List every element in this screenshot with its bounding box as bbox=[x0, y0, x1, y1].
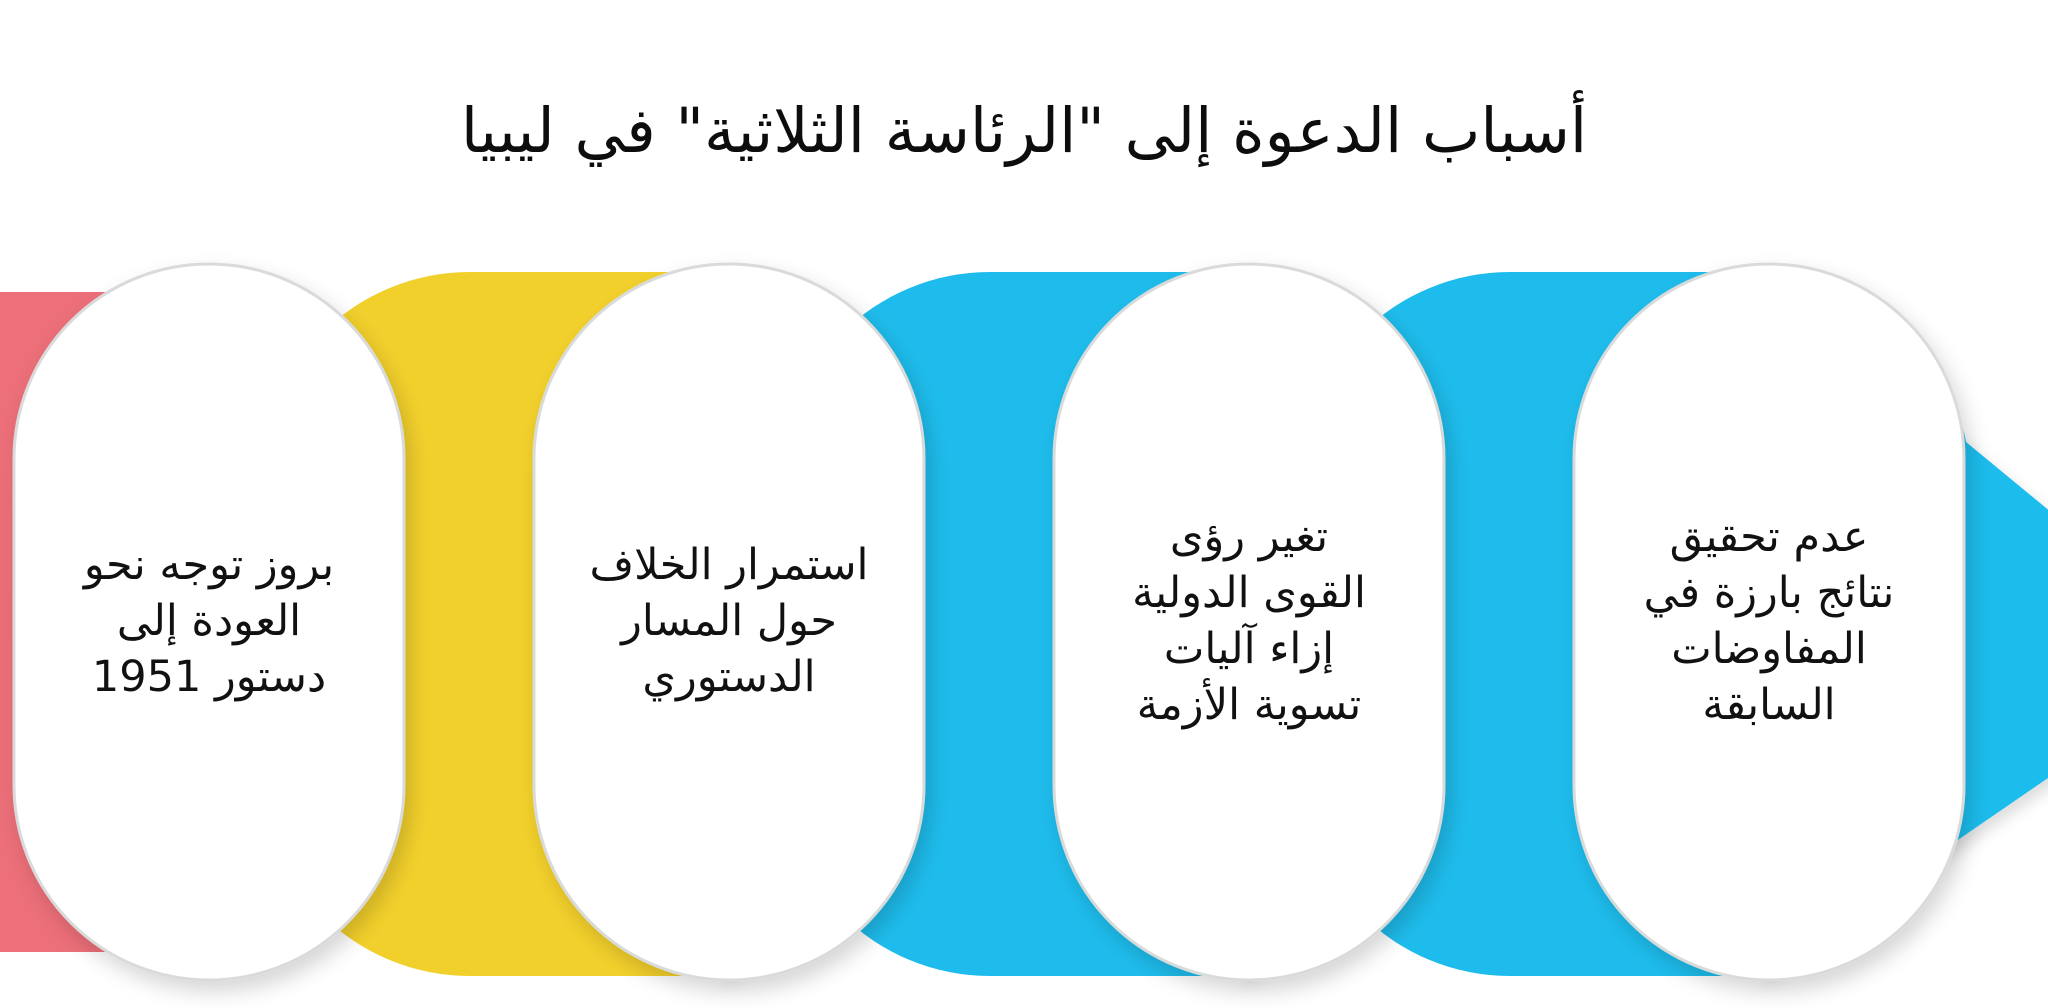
step-4-card bbox=[14, 264, 404, 980]
step-2-card-group bbox=[1054, 264, 1444, 980]
step-4-card-group bbox=[14, 264, 404, 980]
step-1-card bbox=[1574, 264, 1964, 980]
page-title: أسباب الدعوة إلى "الرئاسة الثلاثية" في ل… bbox=[461, 96, 1587, 165]
step-3-card bbox=[534, 264, 924, 980]
infographic-canvas: أسباب الدعوة إلى "الرئاسة الثلاثية" في ل… bbox=[0, 0, 2048, 1008]
step-1-card-group bbox=[1574, 264, 1964, 980]
process-diagram: بروز توجه نحو العودة إلى دستور 1951 استم… bbox=[0, 236, 2048, 1008]
step-3-card-group bbox=[534, 264, 924, 980]
page-title-container: أسباب الدعوة إلى "الرئاسة الثلاثية" في ل… bbox=[0, 96, 2048, 165]
step-2-card bbox=[1054, 264, 1444, 980]
